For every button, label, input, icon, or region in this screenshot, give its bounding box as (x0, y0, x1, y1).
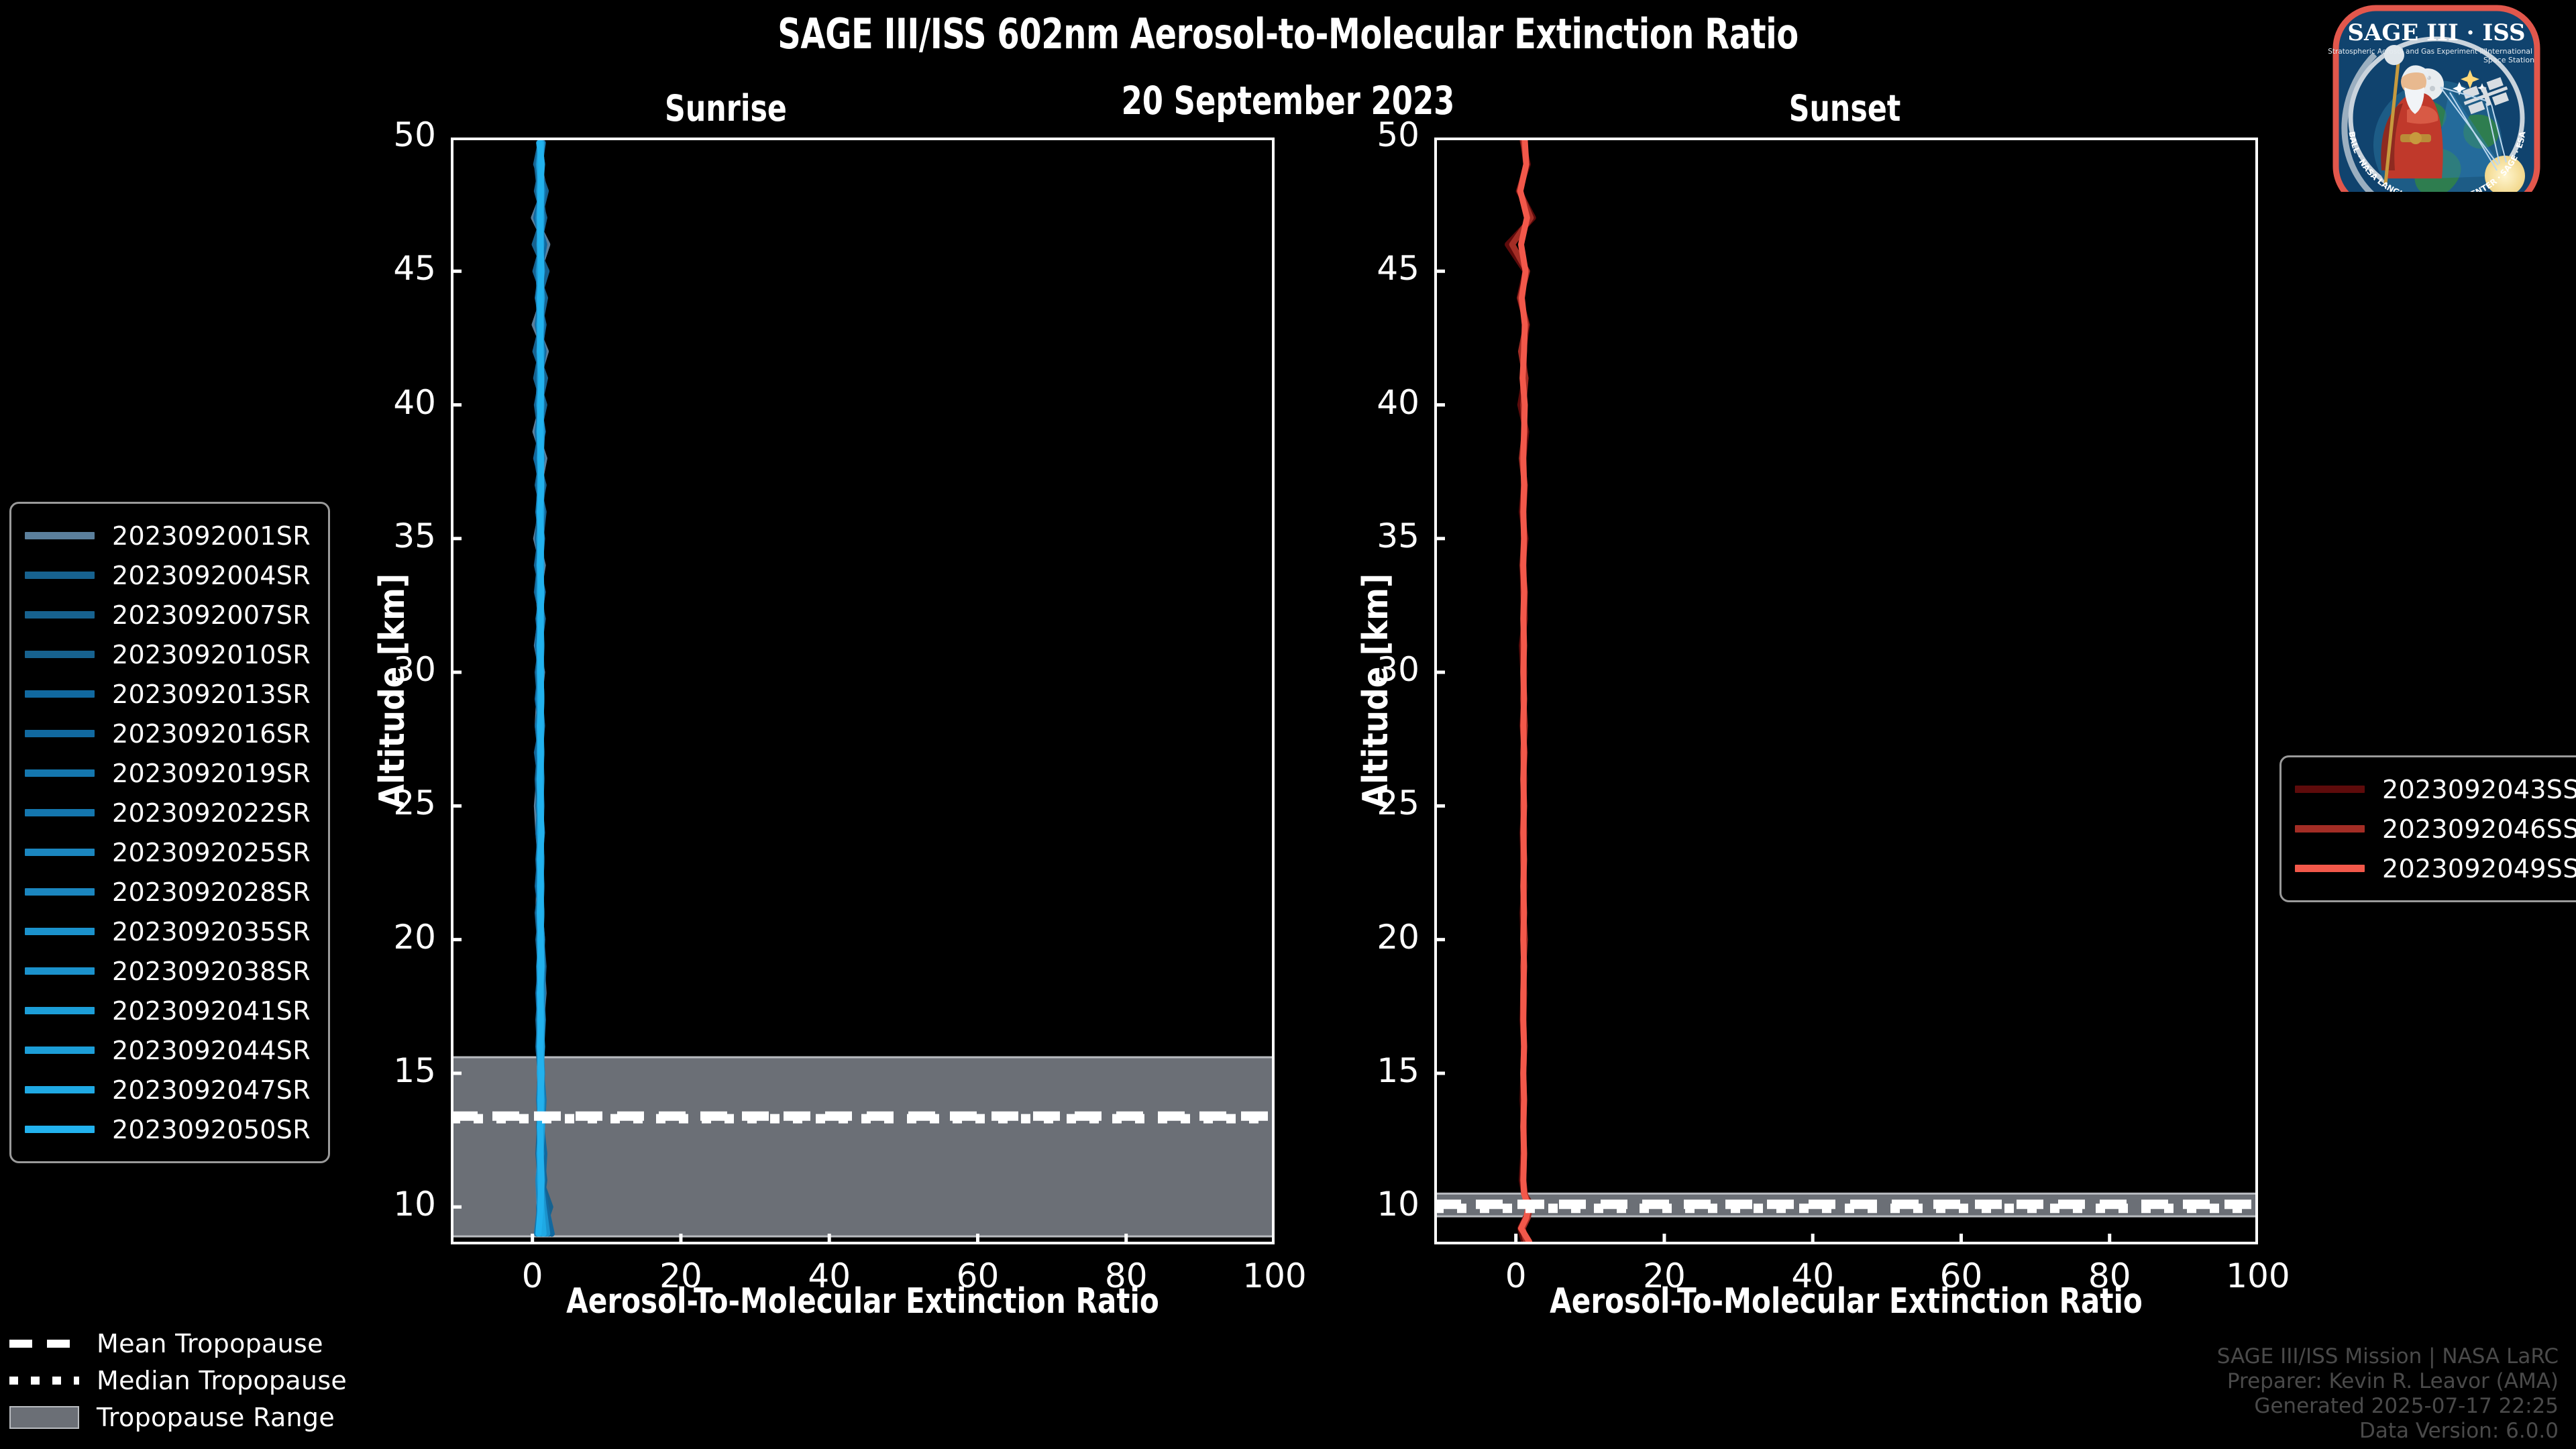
tropopause-legend-item: Tropopause Range (9, 1399, 347, 1436)
legend-color-swatch (25, 967, 95, 975)
y-tick-label: 10 (393, 1185, 436, 1224)
legend-item-label: 2023092004SR (112, 561, 311, 590)
legend-item-label: 2023092025SR (112, 838, 311, 867)
x-tick-label: 80 (2070, 1256, 2150, 1295)
footer-line-generated: Generated 2025-07-17 22:25 (2217, 1394, 2559, 1419)
x-tick-label: 60 (1921, 1256, 2001, 1295)
legend-item-label: 2023092022SR (112, 798, 311, 828)
tropopause-legend-item: Median Tropopause (9, 1362, 347, 1399)
legend-color-swatch (25, 572, 95, 579)
legend-item-label: 2023092041SR (112, 996, 311, 1026)
y-tick-label: 50 (393, 115, 436, 154)
legend-color-swatch (25, 532, 95, 539)
logo-subtitle-right-2: Space Station (2483, 56, 2534, 64)
plot-page: SAGE III/ISS 602nm Aerosol-to-Molecular … (0, 0, 2576, 1449)
legend-color-swatch (25, 849, 95, 856)
sunrise-plot (451, 138, 1275, 1244)
legend-item[interactable]: 2023092041SR (25, 991, 311, 1030)
tropopause-legend-swatch (9, 1377, 79, 1385)
legend-item[interactable]: 2023092022SR (25, 793, 311, 833)
legend-item[interactable]: 2023092049SS (2295, 849, 2576, 888)
y-tick-label: 25 (1377, 784, 1419, 822)
legend-item-label: 2023092028SR (112, 877, 311, 907)
legend-color-swatch (2295, 865, 2365, 872)
footer-credits: SAGE III/ISS Mission | NASA LaRC Prepare… (2217, 1344, 2559, 1444)
legend-color-swatch (25, 1086, 95, 1093)
legend-item[interactable]: 2023092004SR (25, 555, 311, 595)
legend-item[interactable]: 2023092050SR (25, 1110, 311, 1149)
tropopause-legend: Mean TropopauseMedian TropopauseTropopau… (9, 1325, 347, 1436)
legend-item-label: 2023092016SR (112, 719, 311, 749)
y-tick-label: 15 (1377, 1051, 1419, 1090)
legend-item[interactable]: 2023092016SR (25, 714, 311, 753)
y-tick-label: 15 (393, 1051, 436, 1090)
logo-title: SAGE III · ISS (2347, 19, 2525, 46)
legend-color-swatch (25, 1046, 95, 1054)
x-tick-label: 100 (1234, 1256, 1315, 1295)
y-tick-label: 35 (1377, 517, 1419, 555)
y-tick-label: 35 (393, 517, 436, 555)
legend-color-swatch (25, 1126, 95, 1133)
legend-item[interactable]: 2023092010SR (25, 635, 311, 674)
sunrise-legend[interactable]: 2023092001SR2023092004SR2023092007SR2023… (9, 502, 330, 1163)
legend-item-label: 2023092046SS (2382, 814, 2576, 844)
legend-item-label: 2023092013SR (112, 680, 311, 709)
x-tick-label: 0 (1476, 1256, 1556, 1295)
legend-color-swatch (25, 690, 95, 698)
y-tick-label: 10 (1377, 1185, 1419, 1224)
legend-item-label: 2023092044SR (112, 1036, 311, 1065)
legend-item[interactable]: 2023092046SS (2295, 809, 2576, 849)
y-tick-label: 25 (393, 784, 436, 822)
legend-color-swatch (25, 769, 95, 777)
x-tick-label: 0 (492, 1256, 573, 1295)
legend-color-swatch (25, 730, 95, 737)
legend-item-label: 2023092010SR (112, 640, 311, 669)
legend-color-swatch (25, 928, 95, 935)
x-tick-label: 40 (789, 1256, 869, 1295)
legend-item-label: 2023092001SR (112, 521, 311, 551)
legend-item-label: 2023092019SR (112, 759, 311, 788)
legend-color-swatch (25, 1007, 95, 1014)
legend-item[interactable]: 2023092013SR (25, 674, 311, 714)
legend-item[interactable]: 2023092028SR (25, 872, 311, 912)
x-tick-label: 80 (1086, 1256, 1167, 1295)
sunset-panel-title: Sunset (1721, 87, 1969, 129)
y-tick-label: 20 (393, 918, 436, 957)
footer-line-mission: SAGE III/ISS Mission | NASA LaRC (2217, 1344, 2559, 1369)
page-title: SAGE III/ISS 602nm Aerosol-to-Molecular … (180, 9, 2396, 58)
legend-color-swatch (25, 611, 95, 619)
sunrise-plot-canvas (451, 138, 1275, 1244)
legend-item[interactable]: 2023092047SR (25, 1070, 311, 1110)
tropopause-legend-item: Mean Tropopause (9, 1325, 347, 1362)
sunset-plot (1434, 138, 2258, 1244)
logo-subtitle-left: Stratospheric Aerosol and Gas Experiment… (2328, 48, 2486, 56)
legend-item-label: 2023092043SS (2382, 775, 2576, 804)
legend-color-swatch (2295, 786, 2365, 793)
tropopause-legend-label: Tropopause Range (97, 1403, 335, 1432)
y-tick-label: 50 (1377, 115, 1419, 154)
page-subtitle-date: 20 September 2023 (180, 78, 2396, 123)
legend-item-label: 2023092049SS (2382, 854, 2576, 883)
y-tick-label: 30 (1377, 650, 1419, 689)
legend-item[interactable]: 2023092043SS (2295, 769, 2576, 809)
legend-item[interactable]: 2023092007SR (25, 595, 311, 635)
y-tick-label: 20 (1377, 918, 1419, 957)
legend-color-swatch (25, 809, 95, 816)
tropopause-legend-swatch (9, 1340, 79, 1348)
legend-color-swatch (25, 651, 95, 658)
y-tick-label: 40 (393, 383, 436, 422)
x-tick-label: 20 (641, 1256, 721, 1295)
tropopause-range-band (451, 1057, 1275, 1236)
y-tick-label: 45 (393, 249, 436, 288)
legend-item-label: 2023092047SR (112, 1075, 311, 1105)
legend-item[interactable]: 2023092025SR (25, 833, 311, 872)
y-tick-label: 40 (1377, 383, 1419, 422)
x-tick-label: 100 (2218, 1256, 2298, 1295)
sunset-legend[interactable]: 2023092043SS2023092046SS2023092049SS (2279, 755, 2576, 902)
sage-iii-iss-mission-patch-logo: SAGE III · ISS Stratospheric Aerosol and… (2306, 3, 2556, 192)
tropopause-legend-label: Median Tropopause (97, 1366, 347, 1395)
legend-item[interactable]: 2023092038SR (25, 951, 311, 991)
tropopause-legend-label: Mean Tropopause (97, 1329, 323, 1358)
series-line (539, 143, 541, 1234)
x-tick-label: 20 (1624, 1256, 1705, 1295)
footer-line-version: Data Version: 6.0.0 (2217, 1419, 2559, 1444)
legend-item[interactable]: 2023092019SR (25, 753, 311, 793)
sunrise-panel-title: Sunrise (602, 87, 850, 129)
sunset-plot-canvas (1434, 138, 2258, 1244)
legend-item[interactable]: 2023092044SR (25, 1030, 311, 1070)
legend-color-swatch (2295, 825, 2365, 833)
legend-item-label: 2023092050SR (112, 1115, 311, 1144)
legend-item-label: 2023092035SR (112, 917, 311, 947)
x-tick-label: 40 (1772, 1256, 1853, 1295)
tropopause-legend-swatch (9, 1406, 79, 1429)
legend-item-label: 2023092038SR (112, 957, 311, 986)
x-tick-label: 60 (937, 1256, 1018, 1295)
legend-color-swatch (25, 888, 95, 896)
legend-item[interactable]: 2023092035SR (25, 912, 311, 951)
y-tick-label: 45 (1377, 249, 1419, 288)
footer-line-preparer: Preparer: Kevin R. Leavor (AMA) (2217, 1369, 2559, 1394)
logo-subtitle-right-1: International (2485, 47, 2532, 56)
y-tick-label: 30 (393, 650, 436, 689)
legend-item-label: 2023092007SR (112, 600, 311, 630)
legend-item[interactable]: 2023092001SR (25, 516, 311, 555)
